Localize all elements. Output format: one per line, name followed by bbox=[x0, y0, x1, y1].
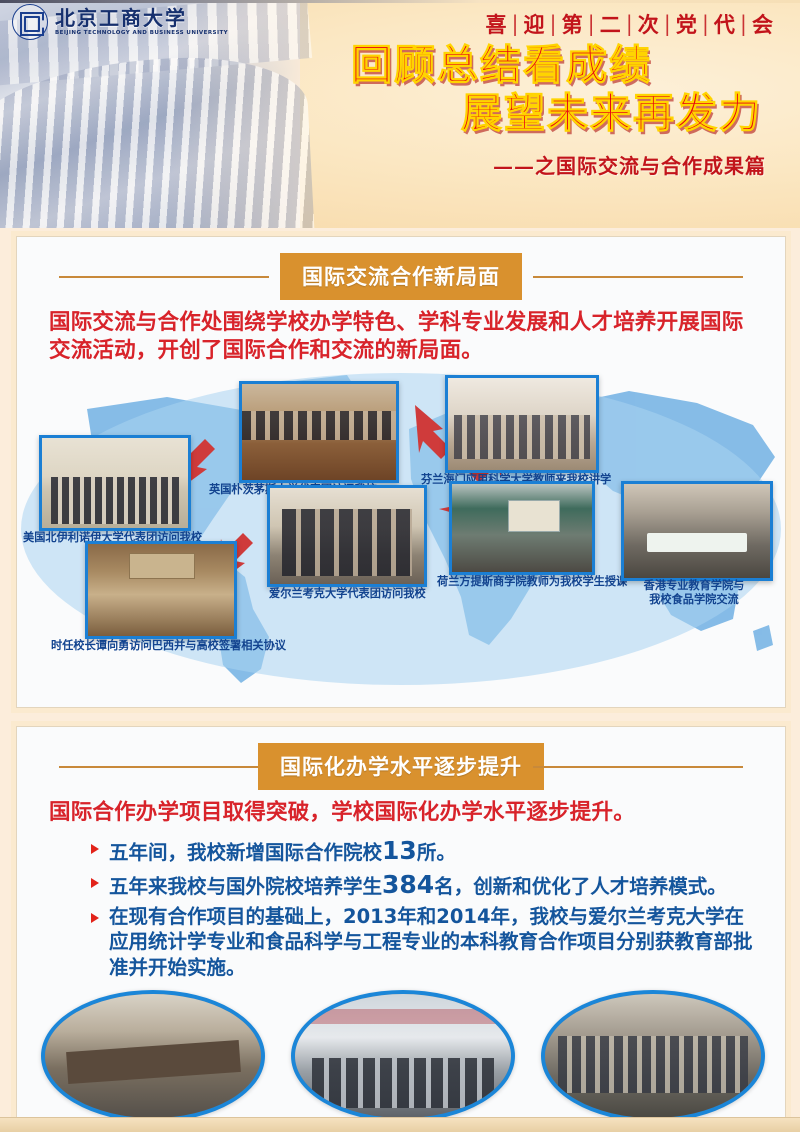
bullet-2-number: 384 bbox=[382, 870, 434, 899]
slogan-char: 代 bbox=[709, 9, 740, 39]
section-internationalization-level: 国际化办学水平逐步提升 国际合作办学项目取得突破，学校国际化办学水平逐步提升。 … bbox=[16, 726, 786, 1118]
slogan-char: 第 bbox=[557, 9, 588, 39]
slogan-char: 二 bbox=[595, 9, 626, 39]
poster-title: 回顾总结看成绩 展望未来再发力 ——之国际交流与合作成果篇 bbox=[351, 42, 766, 179]
slogan-divider: | bbox=[664, 12, 671, 36]
header-top-strip bbox=[0, 0, 800, 3]
title-line-1: 回顾总结看成绩 bbox=[351, 42, 766, 88]
slogan-divider: | bbox=[740, 12, 747, 36]
university-seal-icon bbox=[12, 4, 48, 40]
bullet-3-text: 在现有合作项目的基础上，2013年和2014年，我校与爱尔兰考克大学在应用统计学… bbox=[109, 905, 753, 979]
congress-slogan: 喜| 迎| 第| 二| 次| 党| 代| 会 bbox=[480, 9, 778, 39]
section1-badge: 国际交流合作新局面 bbox=[280, 253, 522, 300]
section2-header: 国际化办学水平逐步提升 bbox=[17, 743, 785, 789]
oval-photo-classroom bbox=[541, 990, 765, 1122]
bullet-1-pre: 五年间，我校新增国际合作院校 bbox=[109, 841, 382, 864]
slogan-char: 会 bbox=[747, 9, 778, 39]
caption-photo-hongkong: 香港专业教育学院与 我校食品学院交流 bbox=[621, 579, 767, 607]
oval-photo-row bbox=[17, 986, 785, 1118]
bullet-item-1: 五年间，我校新增国际合作院校13所。 bbox=[87, 835, 759, 868]
section-international-exchange: 国际交流合作新局面 国际交流与合作处围绕学校办学特色、学科专业发展和人才培养开展… bbox=[16, 236, 786, 708]
section1-rule-left bbox=[59, 276, 269, 278]
ucc-banner-overlay bbox=[295, 1009, 511, 1024]
university-name-en: BEIJING TECHNOLOGY AND BUSINESS UNIVERSI… bbox=[55, 31, 228, 36]
university-name-cn: 北京工商大学 bbox=[55, 8, 225, 28]
section2-lead-text: 国际合作办学项目取得突破，学校国际化办学水平逐步提升。 bbox=[49, 799, 759, 827]
slogan-char: 迎 bbox=[519, 9, 550, 39]
section1-rule-right bbox=[533, 276, 743, 278]
caption-hongkong-line1: 香港专业教育学院与 bbox=[644, 579, 745, 592]
photo-usa bbox=[39, 435, 191, 531]
photo-brazil bbox=[85, 541, 237, 639]
achievement-bullet-list: 五年间，我校新增国际合作院校13所。 五年来我校与国外院校培养学生384名，创新… bbox=[47, 835, 759, 980]
caption-photo-netherlands: 荷兰方提斯商学院教师为我校学生授课 bbox=[437, 575, 627, 589]
footer-strip bbox=[0, 1117, 800, 1132]
bullet-item-2: 五年来我校与国外院校培养学生384名，创新和优化了人才培养模式。 bbox=[87, 869, 759, 902]
photo-netherlands bbox=[449, 481, 595, 575]
slogan-divider: | bbox=[588, 12, 595, 36]
photo-uk bbox=[239, 381, 399, 483]
title-line-2: 展望未来再发力 bbox=[351, 88, 766, 138]
poster-subtitle: ——之国际交流与合作成果篇 bbox=[351, 150, 766, 179]
section1-lead-text: 国际交流与合作处围绕学校办学特色、学科专业发展和人才培养开展国际交流活动，开创了… bbox=[49, 309, 759, 365]
section2-rule-right bbox=[533, 766, 743, 768]
slogan-char: 喜 bbox=[480, 9, 511, 39]
photo-ireland bbox=[267, 485, 427, 587]
world-map-collage: 美国北伊利诺伊大学代表团访问我校 英国朴茨茅斯大学代表团访问我校 芬兰海门应用科… bbox=[17, 369, 785, 687]
university-logo: 北京工商大学 BEIJING TECHNOLOGY AND BUSINESS U… bbox=[12, 4, 225, 40]
slogan-char: 党 bbox=[671, 9, 702, 39]
bullet-2-post: 名，创新和优化了人才培养模式。 bbox=[434, 875, 727, 898]
poster: 北京工商大学 BEIJING TECHNOLOGY AND BUSINESS U… bbox=[0, 0, 800, 1132]
slogan-divider: | bbox=[550, 12, 557, 36]
oval-photo-ucc-delegation bbox=[291, 990, 515, 1122]
caption-photo-ireland: 爱尔兰考克大学代表团访问我校 bbox=[269, 587, 426, 601]
bullet-2-pre: 五年来我校与国外院校培养学生 bbox=[109, 875, 382, 898]
photo-finland bbox=[445, 375, 599, 473]
slogan-divider: | bbox=[626, 12, 633, 36]
caption-photo-brazil: 时任校长谭向勇访问巴西并与高校签署相关协议 bbox=[51, 639, 286, 653]
bullet-item-3: 在现有合作项目的基础上，2013年和2014年，我校与爱尔兰考克大学在应用统计学… bbox=[87, 904, 759, 980]
slogan-divider: | bbox=[511, 12, 518, 36]
slogan-char: 次 bbox=[633, 9, 664, 39]
section2-badge: 国际化办学水平逐步提升 bbox=[258, 743, 544, 790]
section1-header: 国际交流合作新局面 bbox=[17, 253, 785, 299]
photo-hongkong bbox=[621, 481, 773, 581]
section2-rule-left bbox=[59, 766, 269, 768]
bullet-1-number: 13 bbox=[382, 836, 417, 865]
oval-photo-meeting bbox=[41, 990, 265, 1122]
bullet-1-post: 所。 bbox=[417, 841, 456, 864]
header-banner: 北京工商大学 BEIJING TECHNOLOGY AND BUSINESS U… bbox=[0, 0, 800, 228]
caption-hongkong-line2: 我校食品学院交流 bbox=[649, 593, 739, 606]
slogan-divider: | bbox=[702, 12, 709, 36]
